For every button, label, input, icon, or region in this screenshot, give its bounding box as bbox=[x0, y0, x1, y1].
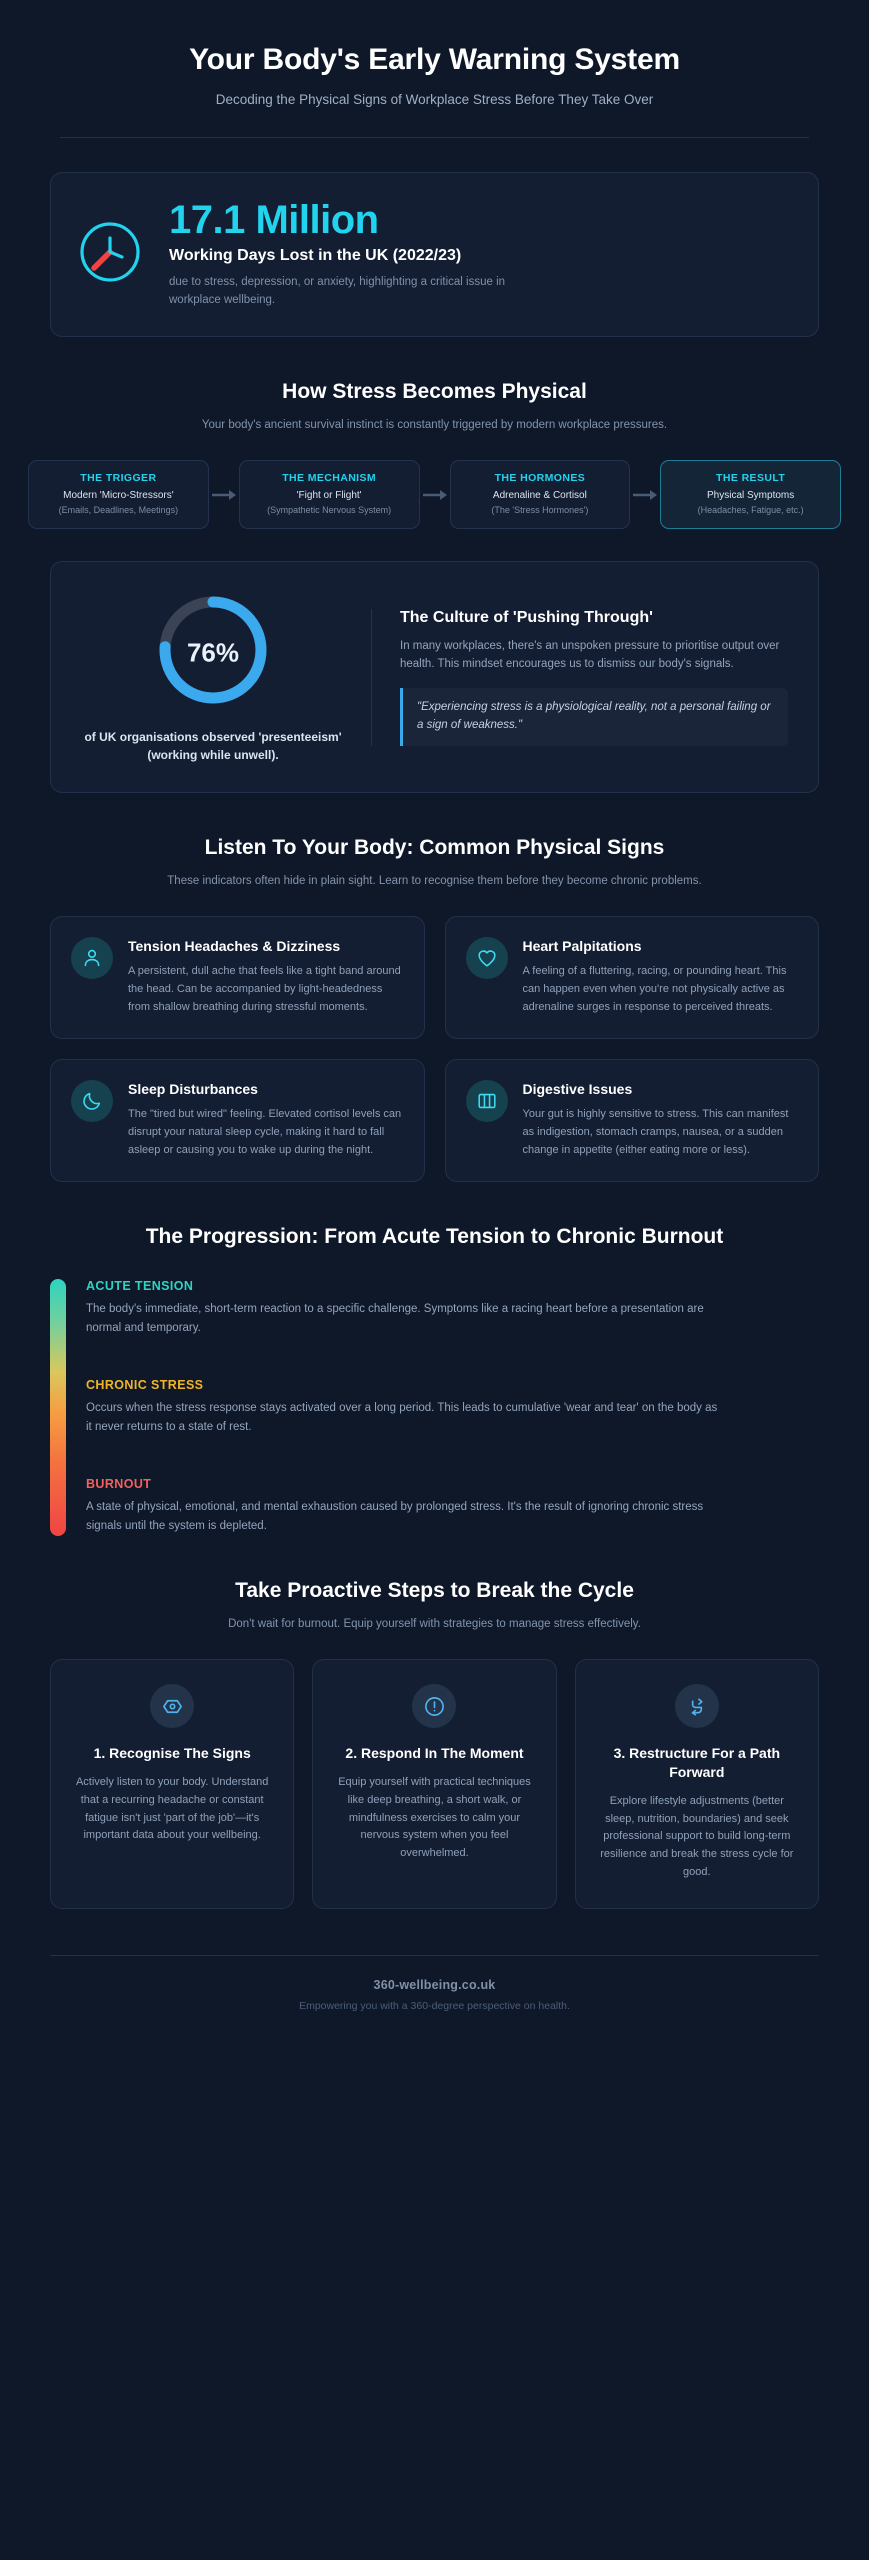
steps-section-header: Take Proactive Steps to Break the Cycle … bbox=[0, 1578, 869, 1633]
progression-stage-label: BURNOUT bbox=[86, 1477, 819, 1491]
symptom-body: Digestive Issues Your gut is highly sens… bbox=[523, 1080, 799, 1159]
symptom-text: A feeling of a fluttering, racing, or po… bbox=[523, 963, 799, 1016]
key-stat-card: 17.1 Million Working Days Lost in the UK… bbox=[50, 172, 819, 337]
presenteeism-body: The Culture of 'Pushing Through' In many… bbox=[371, 609, 788, 746]
progression-stage-label: ACUTE TENSION bbox=[86, 1279, 819, 1293]
flow-step-title: THE MECHANISM bbox=[248, 472, 411, 484]
flow-step-title: THE TRIGGER bbox=[37, 472, 200, 484]
moon-icon bbox=[71, 1080, 113, 1122]
flow-step-main: Modern 'Micro-Stressors' bbox=[37, 489, 200, 503]
action-step-text: Explore lifestyle adjustments (better sl… bbox=[594, 1793, 800, 1882]
presenteeism-card: 76% of UK organisations observed 'presen… bbox=[50, 561, 819, 793]
target-hexagon-icon bbox=[150, 1684, 194, 1728]
progression-stage: CHRONIC STRESS Occurs when the stress re… bbox=[86, 1378, 819, 1437]
symptom-title: Heart Palpitations bbox=[523, 937, 799, 955]
presenteeism-caption: of UK organisations observed 'presenteei… bbox=[81, 729, 345, 764]
page-header: Your Body's Early Warning System Decodin… bbox=[0, 0, 869, 138]
progression-stage: BURNOUT A state of physical, emotional, … bbox=[86, 1477, 819, 1536]
flow-step-sub: (Emails, Deadlines, Meetings) bbox=[37, 504, 200, 516]
footer-tagline: Empowering you with a 360-degree perspec… bbox=[50, 2000, 819, 2012]
progression-stage-list: ACUTE TENSION The body's immediate, shor… bbox=[86, 1279, 819, 1536]
key-stat-label: Working Days Lost in the UK (2022/23) bbox=[169, 247, 788, 265]
progression-section-header: The Progression: From Acute Tension to C… bbox=[0, 1224, 869, 1251]
symptom-body: Sleep Disturbances The "tired but wired"… bbox=[128, 1080, 404, 1159]
presenteeism-text: In many workplaces, there's an unspoken … bbox=[400, 637, 788, 674]
steps-section-subtitle: Don't wait for burnout. Equip yourself w… bbox=[0, 1616, 869, 1633]
infographic-page: Your Body's Early Warning System Decodin… bbox=[0, 0, 869, 2560]
page-subtitle: Decoding the Physical Signs of Workplace… bbox=[50, 92, 819, 107]
progression-section-title: The Progression: From Acute Tension to C… bbox=[0, 1224, 869, 1251]
flow-section-header: How Stress Becomes Physical Your body's … bbox=[0, 379, 869, 434]
action-steps-grid: 1. Recognise The Signs Actively listen t… bbox=[50, 1659, 819, 1909]
footer-brand: 360-wellbeing.co.uk bbox=[50, 1978, 819, 1992]
symptom-text: The "tired but wired" feeling. Elevated … bbox=[128, 1106, 404, 1159]
progression-gradient-bar bbox=[50, 1279, 66, 1536]
presenteeism-donut-chart: 76% bbox=[153, 590, 273, 715]
symptom-body: Heart Palpitations A feeling of a flutte… bbox=[523, 937, 799, 1016]
progression-stage-text: Occurs when the stress response stays ac… bbox=[86, 1399, 726, 1437]
action-step-text: Equip yourself with practical techniques… bbox=[331, 1774, 537, 1863]
flow-arrow-icon bbox=[630, 460, 660, 530]
flow-arrow-icon bbox=[420, 460, 450, 530]
heart-icon bbox=[466, 937, 508, 979]
symptom-body: Tension Headaches & Dizziness A persiste… bbox=[128, 937, 404, 1016]
key-stat-description: due to stress, depression, or anxiety, h… bbox=[169, 274, 559, 310]
action-step-text: Actively listen to your body. Understand… bbox=[69, 1774, 275, 1845]
flow-step-hormones: THE HORMONES Adrenaline & Cortisol (The … bbox=[450, 460, 631, 530]
flow-arrow-icon bbox=[209, 460, 239, 530]
flow-step-sub: (The 'Stress Hormones') bbox=[459, 504, 622, 516]
key-stat-text: 17.1 Million Working Days Lost in the UK… bbox=[169, 199, 788, 310]
flow-step-title: THE RESULT bbox=[669, 472, 832, 484]
flow-step-title: THE HORMONES bbox=[459, 472, 622, 484]
action-step-title: 1. Recognise The Signs bbox=[69, 1744, 275, 1763]
action-step-card: 1. Recognise The Signs Actively listen t… bbox=[50, 1659, 294, 1909]
presenteeism-quote: "Experiencing stress is a physiological … bbox=[400, 688, 788, 746]
flow-step-sub: (Headaches, Fatigue, etc.) bbox=[669, 504, 832, 516]
symptom-title: Digestive Issues bbox=[523, 1080, 799, 1098]
alert-circle-icon bbox=[412, 1684, 456, 1728]
columns-icon bbox=[466, 1080, 508, 1122]
progression-stage: ACUTE TENSION The body's immediate, shor… bbox=[86, 1279, 819, 1338]
clock-icon bbox=[77, 219, 143, 290]
flow-step-trigger: THE TRIGGER Modern 'Micro-Stressors' (Em… bbox=[28, 460, 209, 530]
person-icon bbox=[71, 937, 113, 979]
flow-step-sub: (Sympathetic Nervous System) bbox=[248, 504, 411, 516]
steps-section-title: Take Proactive Steps to Break the Cycle bbox=[0, 1578, 869, 1605]
flow-step-main: Physical Symptoms bbox=[669, 489, 832, 503]
action-step-title: 2. Respond In The Moment bbox=[331, 1744, 537, 1763]
flow-section-title: How Stress Becomes Physical bbox=[0, 379, 869, 406]
symptom-text: A persistent, dull ache that feels like … bbox=[128, 963, 404, 1016]
header-divider bbox=[60, 137, 809, 138]
action-step-title: 3. Restructure For a Path Forward bbox=[594, 1744, 800, 1782]
symptom-card: Sleep Disturbances The "tired but wired"… bbox=[50, 1059, 425, 1182]
symptom-title: Sleep Disturbances bbox=[128, 1080, 404, 1098]
symptoms-section-subtitle: These indicators often hide in plain sig… bbox=[0, 873, 869, 890]
symptoms-section-header: Listen To Your Body: Common Physical Sig… bbox=[0, 835, 869, 890]
symptom-card: Digestive Issues Your gut is highly sens… bbox=[445, 1059, 820, 1182]
page-footer: 360-wellbeing.co.uk Empowering you with … bbox=[50, 1955, 819, 2046]
stress-flow-diagram: THE TRIGGER Modern 'Micro-Stressors' (Em… bbox=[28, 460, 841, 530]
symptoms-grid: Tension Headaches & Dizziness A persiste… bbox=[50, 916, 819, 1182]
symptom-card: Tension Headaches & Dizziness A persiste… bbox=[50, 916, 425, 1039]
flow-step-main: 'Fight or Flight' bbox=[248, 489, 411, 503]
symptoms-section-title: Listen To Your Body: Common Physical Sig… bbox=[0, 835, 869, 862]
progression-stage-text: A state of physical, emotional, and ment… bbox=[86, 1498, 726, 1536]
page-title: Your Body's Early Warning System bbox=[50, 42, 819, 78]
action-step-card: 2. Respond In The Moment Equip yourself … bbox=[312, 1659, 556, 1909]
progression-timeline: ACUTE TENSION The body's immediate, shor… bbox=[50, 1279, 819, 1536]
flow-step-result: THE RESULT Physical Symptoms (Headaches,… bbox=[660, 460, 841, 530]
presenteeism-title: The Culture of 'Pushing Through' bbox=[400, 609, 788, 627]
key-stat-number: 17.1 Million bbox=[169, 199, 788, 241]
progression-stage-text: The body's immediate, short-term reactio… bbox=[86, 1300, 726, 1338]
refresh-path-icon bbox=[675, 1684, 719, 1728]
presenteeism-percent: 76% bbox=[153, 637, 273, 668]
progression-stage-label: CHRONIC STRESS bbox=[86, 1378, 819, 1392]
symptom-card: Heart Palpitations A feeling of a flutte… bbox=[445, 916, 820, 1039]
flow-step-main: Adrenaline & Cortisol bbox=[459, 489, 622, 503]
presenteeism-donut-block: 76% of UK organisations observed 'presen… bbox=[81, 590, 371, 764]
flow-step-mechanism: THE MECHANISM 'Fight or Flight' (Sympath… bbox=[239, 460, 420, 530]
symptom-text: Your gut is highly sensitive to stress. … bbox=[523, 1106, 799, 1159]
flow-section-subtitle: Your body's ancient survival instinct is… bbox=[0, 417, 869, 434]
action-step-card: 3. Restructure For a Path Forward Explor… bbox=[575, 1659, 819, 1909]
symptom-title: Tension Headaches & Dizziness bbox=[128, 937, 404, 955]
